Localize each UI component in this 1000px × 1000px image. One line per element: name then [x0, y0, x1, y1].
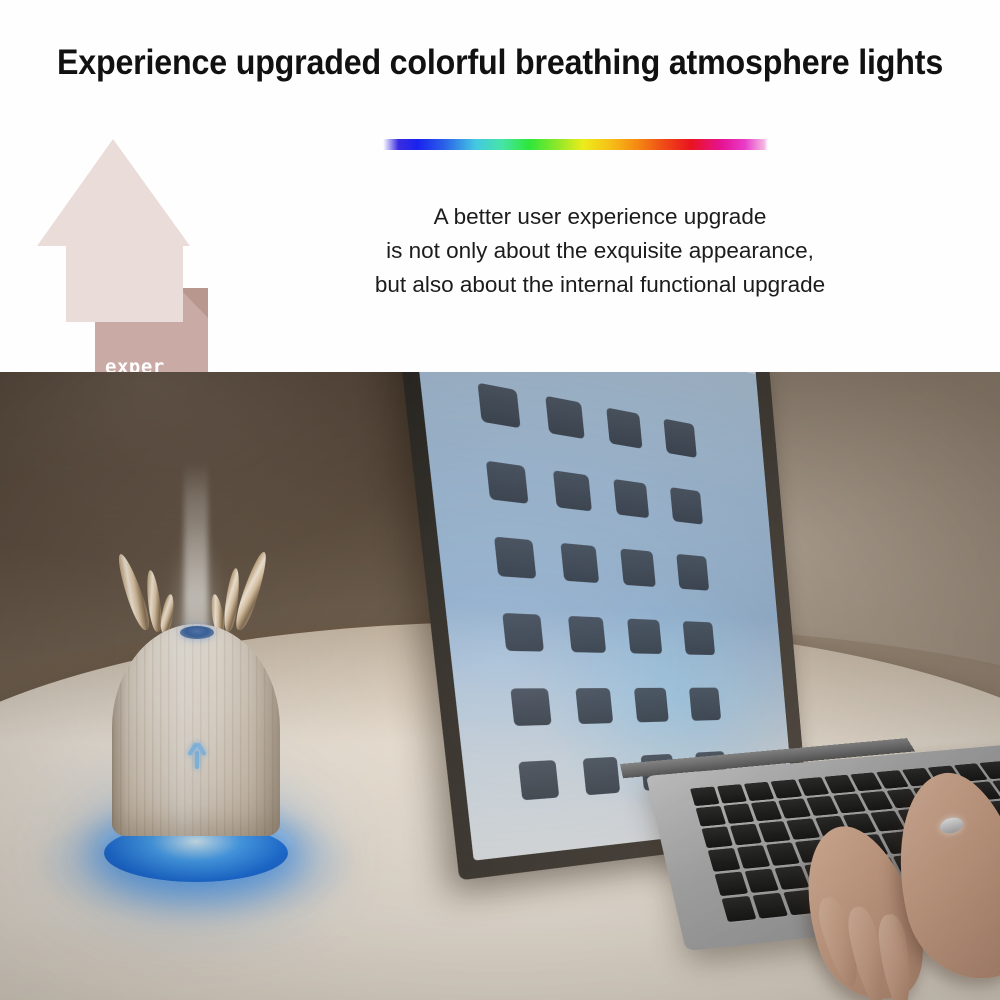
body-line-1: A better user experience upgrade [268, 200, 932, 234]
rainbow-gradient-rule [383, 139, 768, 150]
key [797, 777, 829, 796]
key [753, 893, 789, 919]
app-icon [634, 688, 669, 723]
screen-app-icon-grid [478, 383, 727, 800]
app-icon [511, 688, 552, 726]
arrow-head-icon [37, 139, 190, 246]
app-icon [663, 418, 696, 458]
app-icon [613, 479, 649, 518]
key [737, 845, 770, 868]
app-icon [669, 487, 702, 525]
key [775, 865, 810, 889]
key [717, 784, 747, 804]
app-icon [606, 408, 642, 449]
y-stem [195, 751, 199, 769]
app-icon [627, 619, 662, 655]
product-banner-page: Experience upgraded colorful breathing a… [0, 0, 1000, 1000]
device-body [112, 624, 280, 836]
arrow-shaft [66, 245, 183, 322]
key [708, 848, 741, 871]
key [744, 782, 775, 801]
app-icon [688, 687, 720, 720]
app-icon [682, 621, 715, 655]
app-icon [676, 554, 709, 590]
key [714, 871, 748, 896]
key [751, 801, 783, 822]
key [723, 803, 754, 824]
folded-corner-icon [179, 288, 208, 318]
body-paragraph: A better user experience upgrade is not … [268, 200, 932, 302]
app-icon [620, 549, 656, 586]
key [779, 798, 811, 818]
app-icon [560, 543, 599, 582]
mist-nozzle [180, 626, 214, 639]
key [806, 796, 839, 816]
app-icon [503, 613, 545, 652]
top-banner: Experience upgraded colorful breathing a… [0, 0, 1000, 372]
body-line-2: is not only about the exquisite appearan… [268, 234, 932, 268]
key [696, 806, 727, 827]
key [690, 787, 720, 807]
key [730, 824, 762, 846]
app-icon [545, 396, 584, 440]
screen-menubar [408, 372, 755, 374]
key [721, 896, 756, 922]
experience-badge-label: exper ience [105, 354, 208, 372]
app-icon [568, 616, 606, 653]
app-icon [582, 757, 620, 794]
app-icon [519, 761, 560, 800]
app-icon [494, 537, 536, 578]
app-icon [486, 460, 529, 503]
app-icon [478, 383, 521, 429]
key [745, 868, 780, 893]
badge-line-1: exper [105, 354, 208, 372]
key [702, 827, 734, 849]
antler-humidifier [96, 542, 296, 902]
product-lifestyle-photo [0, 372, 1000, 1000]
key [766, 843, 800, 866]
laptop [470, 372, 1000, 1000]
key [787, 819, 820, 841]
key [771, 779, 802, 798]
key [759, 821, 792, 843]
y-power-indicator-icon [184, 738, 210, 768]
app-icon [553, 470, 592, 511]
upward-arrow-graphic: exper ience [0, 0, 260, 372]
body-line-3: but also about the internal functional u… [268, 268, 932, 302]
app-icon [575, 688, 613, 724]
